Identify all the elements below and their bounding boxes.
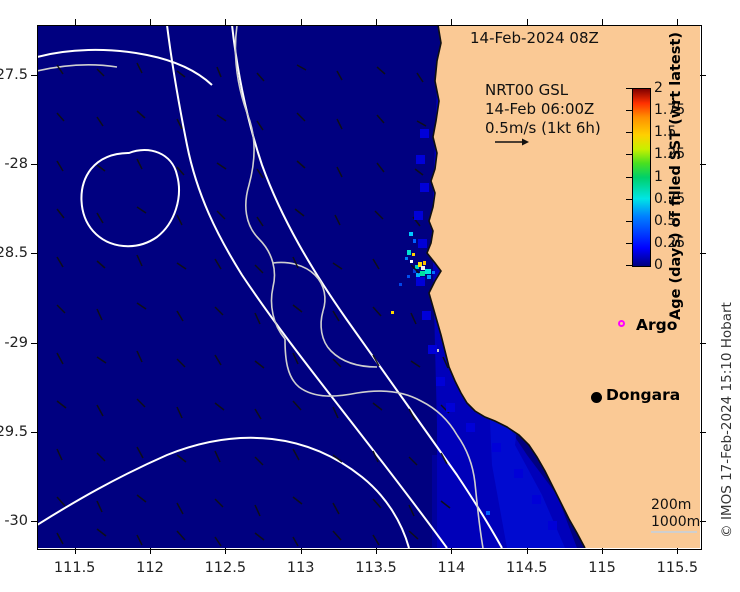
colorbar-tick-label: 1 <box>654 169 663 185</box>
colorbar-tick <box>626 110 632 111</box>
x-axis-tick <box>225 548 226 554</box>
velocity-time-label: 14-Feb 06:00Z <box>485 100 601 119</box>
colorbar-tick-label: 1.25 <box>654 146 685 162</box>
x-axis-tick-label: 112 <box>136 560 164 576</box>
y-axis-tick <box>31 432 37 433</box>
colorbar-tick <box>626 221 632 222</box>
x-axis-tick-label: 113.5 <box>355 560 397 576</box>
colorbar-tick-label: 0.5 <box>654 213 676 229</box>
x-axis-tick-label: 112.5 <box>205 560 247 576</box>
colorbar-tick-label: 1.75 <box>654 102 685 118</box>
y-axis-tick-label: -27.5 <box>0 67 28 83</box>
x-axis-tick-label: 115 <box>588 560 616 576</box>
date-stamp-label: 14-Feb-2024 08Z <box>470 29 599 47</box>
y-axis-tick <box>31 164 37 165</box>
colorbar-tick <box>626 88 632 89</box>
y-axis-tick <box>31 75 37 76</box>
y-axis-tick-label: -30 <box>4 513 28 529</box>
y-axis-tick-label: -29.5 <box>0 424 28 440</box>
colorbar-tick-label: 0 <box>654 257 663 273</box>
bathy-200m-label: 200m <box>651 497 700 514</box>
velocity-legend: NRT00 GSL 14-Feb 06:00Z 0.5m/s (1kt 6h) <box>485 81 601 138</box>
x-axis-tick-label: 111.5 <box>54 560 96 576</box>
colorbar-tick <box>626 132 632 133</box>
y-axis-tick-right <box>700 75 706 76</box>
colorbar-tick <box>626 177 632 178</box>
velocity-reference-arrow-icon <box>495 136 529 148</box>
dongara-place-label: Dongara <box>606 386 680 404</box>
x-axis-tick <box>677 548 678 554</box>
y-axis-tick-label: -28 <box>4 156 28 172</box>
x-axis-tick <box>301 19 302 25</box>
colorbar-title: Age (days) of filled SST (wrt latest) <box>668 32 684 320</box>
y-axis-tick <box>31 343 37 344</box>
colorbar-tick <box>626 265 632 266</box>
x-axis-tick-label: 114 <box>438 560 466 576</box>
colorbar-tick <box>626 243 632 244</box>
colorbar-tick-label: 1.5 <box>654 124 676 140</box>
bathy-1000m-line-sample <box>651 531 697 533</box>
bathymetry-legend: 200m 1000m <box>651 497 700 531</box>
x-axis-tick <box>451 19 452 25</box>
y-axis-tick-right <box>700 253 706 254</box>
x-axis-tick <box>527 19 528 25</box>
x-axis-tick <box>602 19 603 25</box>
y-axis-tick <box>31 253 37 254</box>
colorbar-tick-label: 0.25 <box>654 235 685 251</box>
x-axis-tick <box>451 548 452 554</box>
copyright-notice: © IMOS 17-Feb-2024 15:10 Hobart <box>719 302 735 538</box>
x-axis-tick <box>376 548 377 554</box>
y-axis-tick-right <box>700 164 706 165</box>
bathy-1000m-label: 1000m <box>651 514 700 531</box>
x-axis-tick <box>150 19 151 25</box>
y-axis-tick-right <box>700 432 706 433</box>
velocity-product-label: NRT00 GSL <box>485 81 601 100</box>
x-axis-tick <box>75 548 76 554</box>
x-axis-tick-label: 115.5 <box>657 560 699 576</box>
colorbar-gradient <box>632 88 651 267</box>
colorbar-tick <box>626 199 632 200</box>
x-axis-tick <box>150 548 151 554</box>
x-axis-tick <box>677 19 678 25</box>
x-axis-tick-label: 114.5 <box>506 560 548 576</box>
x-axis-tick <box>301 548 302 554</box>
colorbar-tick <box>626 154 632 155</box>
colorbar-tick-label: 2 <box>654 80 663 96</box>
dongara-marker-icon <box>591 392 602 403</box>
x-axis-tick <box>602 548 603 554</box>
x-axis-tick <box>376 19 377 25</box>
y-axis-tick-right <box>700 521 706 522</box>
x-axis-tick <box>75 19 76 25</box>
y-axis-tick-label: -28.5 <box>0 245 28 261</box>
x-axis-tick <box>225 19 226 25</box>
x-axis-tick-label: 113 <box>287 560 315 576</box>
y-axis-tick <box>31 521 37 522</box>
x-axis-tick <box>527 548 528 554</box>
y-axis-tick-right <box>700 343 706 344</box>
argo-marker-icon <box>618 320 625 327</box>
colorbar-tick-label: 0.75 <box>654 191 685 207</box>
y-axis-tick-label: -29 <box>4 335 28 351</box>
